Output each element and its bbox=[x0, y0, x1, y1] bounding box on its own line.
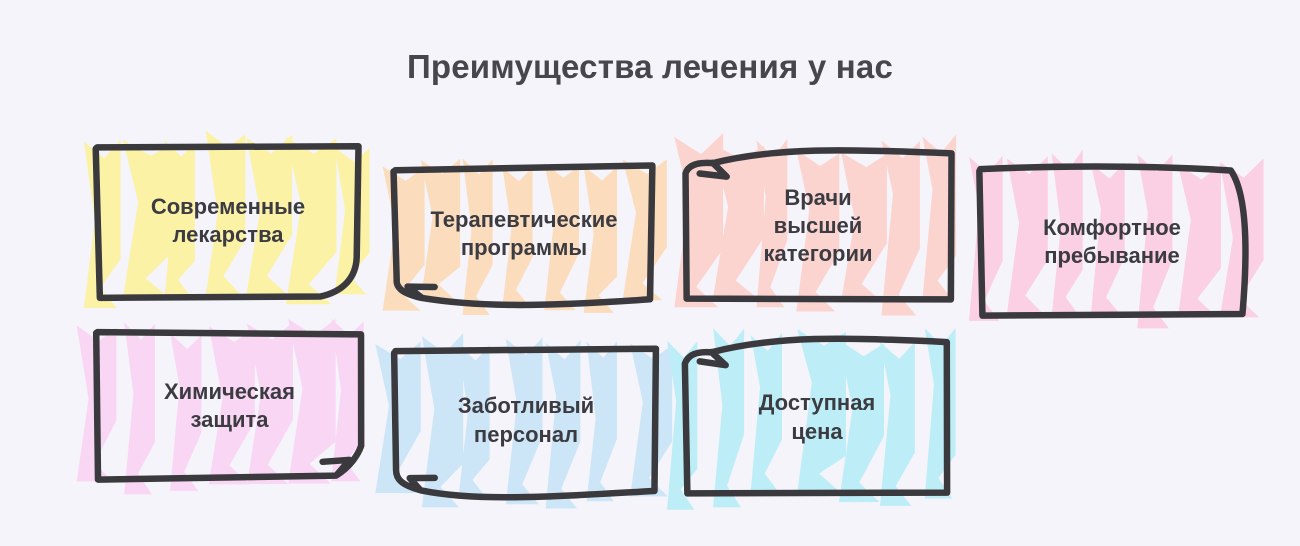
card-sketch-top-category-doctors bbox=[660, 126, 976, 326]
infographic-canvas: Преимущества лечения у нас Современные л… bbox=[0, 0, 1300, 546]
card-highlighter-fill bbox=[84, 131, 370, 308]
card-therapeutic-programs[interactable]: Терапевтические программы bbox=[395, 167, 653, 301]
card-highlighter-fill bbox=[969, 150, 1264, 329]
card-sketch-affordable-price bbox=[660, 315, 974, 520]
card-top-category-doctors[interactable]: Врачи высшей категории bbox=[686, 152, 950, 300]
card-sketch-caring-staff bbox=[369, 322, 683, 519]
card-sketch-chemical-protection bbox=[71, 307, 388, 505]
card-comfortable-stay[interactable]: Комфортное пребывание bbox=[980, 168, 1244, 316]
card-affordable-price[interactable]: Доступная цена bbox=[686, 341, 948, 494]
card-modern-medicines[interactable]: Современные лекарства bbox=[97, 146, 359, 296]
page-title: Преимущества лечения у нас bbox=[0, 48, 1300, 86]
card-highlighter-fill bbox=[383, 159, 667, 315]
card-highlighter-fill bbox=[375, 333, 672, 508]
card-caring-staff[interactable]: Заботливый персонал bbox=[395, 348, 657, 493]
card-chemical-protection[interactable]: Химическая защита bbox=[97, 333, 362, 479]
card-sketch-comfortable-stay bbox=[954, 142, 1270, 342]
card-sketch-modern-medicines bbox=[71, 120, 385, 322]
card-highlighter-fill bbox=[77, 319, 364, 495]
card-sketch-therapeutic-programs bbox=[369, 141, 679, 327]
